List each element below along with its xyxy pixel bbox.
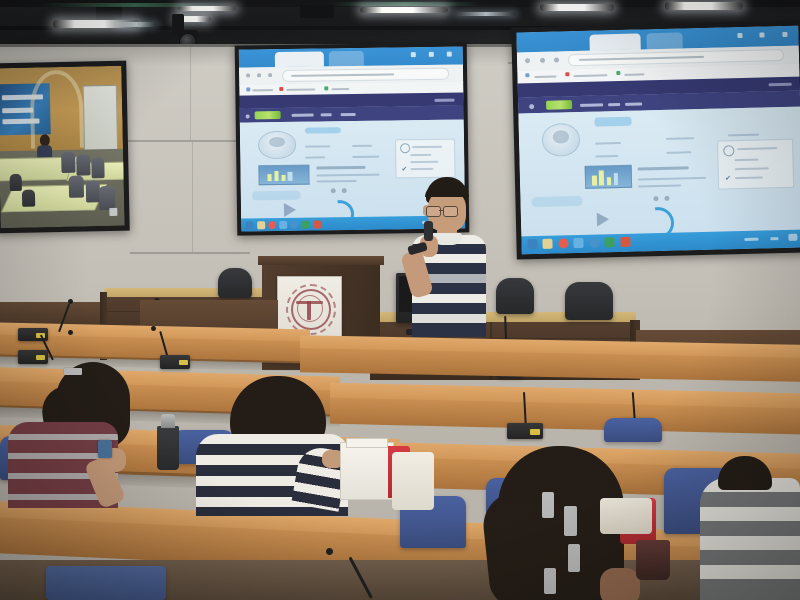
bookmark-icon[interactable]: [526, 74, 530, 78]
linear-light-icon: [360, 7, 448, 13]
nav-menu-icon[interactable]: [245, 115, 249, 119]
taskbar-clock[interactable]: [770, 237, 778, 240]
profile-avatar: [258, 131, 296, 159]
taskbar-tray-icon[interactable]: [744, 238, 758, 241]
nav-item[interactable]: [340, 113, 356, 116]
site-logo-icon[interactable]: [546, 100, 572, 110]
glasses-bridge: [439, 210, 444, 211]
attendee-left: [8, 362, 158, 512]
thumb-bar: [274, 171, 279, 182]
microphone-label: [530, 429, 540, 435]
taskbar-excel-icon[interactable]: [302, 220, 310, 228]
banner-text: [2, 107, 33, 113]
taskbar-excel-icon[interactable]: [605, 237, 615, 247]
bag-top-fold: [346, 438, 388, 448]
action-pill[interactable]: [252, 191, 301, 200]
content-title[interactable]: [317, 166, 366, 170]
thumb-bar: [614, 173, 619, 185]
taskbar-chrome-icon[interactable]: [558, 238, 568, 248]
remote-chair: [61, 152, 75, 173]
profile-field: [595, 142, 620, 145]
speaker: [404, 177, 490, 337]
reload-icon[interactable]: [268, 73, 272, 77]
profile-field: [352, 145, 372, 147]
linear-light-icon: [178, 6, 236, 11]
profile-avatar: [541, 123, 580, 157]
content-thumbnail[interactable]: [258, 165, 310, 185]
wall-seam: [130, 252, 250, 254]
white-cloth-item: [392, 452, 434, 510]
action-pill[interactable]: [532, 196, 583, 207]
panel-option[interactable]: [735, 167, 769, 170]
bookmark-label[interactable]: [331, 88, 349, 90]
linear-light-icon: [540, 4, 614, 11]
panel-option[interactable]: [410, 154, 431, 156]
profile-field: [666, 138, 694, 141]
reload-icon[interactable]: [554, 57, 559, 62]
profile-field: [352, 155, 379, 157]
browser-tab-active[interactable]: [275, 52, 324, 67]
content-desc: [317, 173, 380, 176]
back-icon[interactable]: [246, 73, 250, 77]
stage-chair: [218, 268, 252, 298]
content-meta-icon: [341, 188, 346, 193]
lectern-top: [258, 256, 384, 265]
taskbar-powerpoint-icon[interactable]: [620, 237, 630, 247]
bookmark-label[interactable]: [286, 88, 315, 90]
panel-option[interactable]: [410, 161, 438, 163]
nav-item[interactable]: [291, 114, 313, 117]
close-icon[interactable]: [782, 32, 787, 37]
stage-chair: [496, 278, 534, 314]
play-icon[interactable]: [597, 212, 609, 226]
attendee-right-shirt: [700, 478, 800, 600]
hair-clip: [64, 368, 82, 375]
panel-option[interactable]: [735, 158, 758, 161]
thumb-bar: [599, 170, 604, 185]
thumb-bar: [281, 175, 286, 181]
projection-screen-right: ✔: [511, 20, 800, 259]
crest-stem: [307, 301, 311, 320]
ceiling-fixture-box: [300, 5, 334, 18]
bookmark-label[interactable]: [253, 89, 273, 91]
taskbar-notification-icon[interactable]: [789, 234, 798, 241]
lecture-hall-photo: ✔: [0, 0, 800, 600]
stage-chair: [565, 282, 613, 320]
side-panel: ✔: [395, 139, 456, 178]
mobile-phone: [98, 440, 112, 458]
page-content: ✔: [518, 107, 800, 237]
content-meta-icon: [330, 189, 335, 194]
video-feed-surface: [0, 66, 125, 229]
nav-item[interactable]: [320, 114, 331, 117]
url-text: [579, 56, 703, 61]
content-desc: [639, 185, 681, 188]
white-item: [600, 498, 652, 534]
remote-chair: [91, 157, 105, 178]
profile-field: [728, 133, 759, 136]
search-icon[interactable]: [724, 145, 735, 156]
nav-item[interactable]: [625, 102, 642, 105]
nav-item[interactable]: [580, 103, 603, 107]
bookmark-icon[interactable]: [565, 73, 569, 77]
site-logo-icon[interactable]: [254, 111, 281, 119]
panel-search-text: [738, 147, 778, 150]
bag-body: [340, 442, 394, 500]
panel-option-selected[interactable]: [410, 168, 433, 170]
desk-microphone[interactable]: [507, 423, 543, 439]
eyeglasses-icon: [426, 206, 468, 216]
linear-light-icon: [665, 2, 743, 10]
taskbar-folder-icon[interactable]: [257, 221, 265, 229]
profile-field: [595, 155, 618, 158]
remote-chair: [76, 154, 90, 175]
attendee-right: [700, 478, 800, 600]
remote-room-whiteboard: [83, 85, 119, 152]
back-icon[interactable]: [525, 58, 530, 63]
bottle-cap: [161, 414, 175, 428]
remote-chair: [22, 189, 35, 207]
check-icon: ✔: [725, 175, 731, 182]
url-text: [291, 74, 394, 77]
bookmark-icon[interactable]: [246, 88, 250, 92]
thumb-bar: [606, 177, 611, 185]
bookmark-label[interactable]: [534, 75, 557, 78]
taskbar-chrome-icon[interactable]: [268, 221, 276, 229]
remote-chair: [9, 173, 22, 191]
taskbar-edge-icon[interactable]: [589, 238, 599, 248]
profile-name-chip: [305, 127, 341, 134]
video-conference-screen: [0, 61, 130, 234]
bookmark-label[interactable]: [574, 74, 608, 77]
water-bottle: [157, 426, 179, 470]
panel-option-selected[interactable]: [735, 176, 763, 179]
desk-microphone-head: [326, 548, 333, 555]
hair-clip: [564, 506, 577, 536]
address-bar[interactable]: [282, 68, 450, 82]
glasses-lens-left: [426, 206, 441, 217]
site-top-link[interactable]: [769, 83, 792, 87]
hair-clip: [544, 568, 556, 594]
close-icon[interactable]: [447, 52, 452, 57]
thumb-bar: [288, 172, 293, 181]
thumb-bar: [267, 174, 272, 182]
taskbar-media-icon[interactable]: [574, 238, 584, 248]
drink-cup: [636, 540, 670, 580]
content-desc: [317, 180, 357, 183]
content-meta-icon: [664, 196, 669, 201]
profile-field: [305, 145, 330, 147]
minimize-icon[interactable]: [737, 33, 742, 38]
desk-microphone[interactable]: [160, 355, 190, 369]
site-top-link[interactable]: [434, 98, 454, 101]
browser-tab[interactable]: [328, 51, 364, 66]
microphone-label: [36, 355, 45, 360]
remote-chair: [69, 175, 84, 198]
content-thumbnail[interactable]: [584, 165, 632, 189]
content-meta-icon: [653, 196, 658, 201]
bookmark-icon[interactable]: [324, 86, 328, 90]
profile-name-chip: [595, 117, 632, 127]
profile-field: [666, 151, 691, 154]
profile-field: [305, 156, 325, 158]
taskbar-folder-icon[interactable]: [543, 239, 553, 249]
search-icon[interactable]: [401, 144, 411, 154]
browser-tab[interactable]: [646, 32, 683, 49]
linear-light-icon: [115, 22, 157, 27]
nav-item[interactable]: [608, 103, 619, 106]
thumb-bar: [592, 176, 597, 186]
forward-icon[interactable]: [540, 58, 545, 63]
taskbar-powerpoint-icon[interactable]: [313, 220, 321, 228]
desk-microphone-head: [68, 299, 73, 304]
handheld-microphone: [424, 221, 433, 241]
play-icon[interactable]: [283, 203, 295, 217]
remote-room-feed: [0, 66, 125, 229]
audience-chair-seat: [46, 566, 166, 600]
forward-icon[interactable]: [257, 73, 261, 77]
linear-light-icon: [456, 12, 516, 16]
attendee-front-hand: [600, 568, 640, 600]
content-desc: [638, 177, 706, 181]
taskbar-explorer-icon[interactable]: [246, 221, 254, 229]
maximize-icon[interactable]: [429, 52, 434, 57]
desk-microphone-head: [68, 330, 73, 335]
taskbar-media-icon[interactable]: [279, 220, 287, 228]
content-title[interactable]: [638, 166, 689, 170]
browser-window-right: ✔: [516, 26, 800, 255]
minimize-icon[interactable]: [411, 53, 416, 58]
feed-speaker-icon: [109, 208, 117, 216]
remote-chair: [99, 186, 116, 210]
taskbar-explorer-icon[interactable]: [527, 239, 537, 249]
side-panel: ✔: [717, 139, 793, 190]
bookmark-icon[interactable]: [280, 87, 284, 91]
projection-surface-right: ✔: [516, 26, 800, 255]
desk-microphone-head: [151, 326, 156, 331]
browser-tab-active[interactable]: [590, 33, 641, 50]
glasses-lens-right: [443, 206, 458, 217]
bookmark-label[interactable]: [625, 73, 645, 75]
ceiling-reflection: [330, 2, 480, 6]
speaker-hairline: [425, 185, 469, 197]
taskbar-edge-icon[interactable]: [290, 220, 298, 228]
wall-seam-vertical: [192, 142, 193, 252]
microphone-label: [179, 360, 188, 365]
check-icon: ✔: [401, 167, 407, 174]
audience-chair: [604, 418, 662, 442]
maximize-icon[interactable]: [760, 32, 765, 37]
hair-clip: [542, 492, 554, 518]
nav-menu-icon[interactable]: [529, 104, 534, 109]
hair-clip: [568, 544, 580, 572]
panel-search-text: [412, 146, 442, 148]
bookmark-icon[interactable]: [616, 71, 620, 75]
